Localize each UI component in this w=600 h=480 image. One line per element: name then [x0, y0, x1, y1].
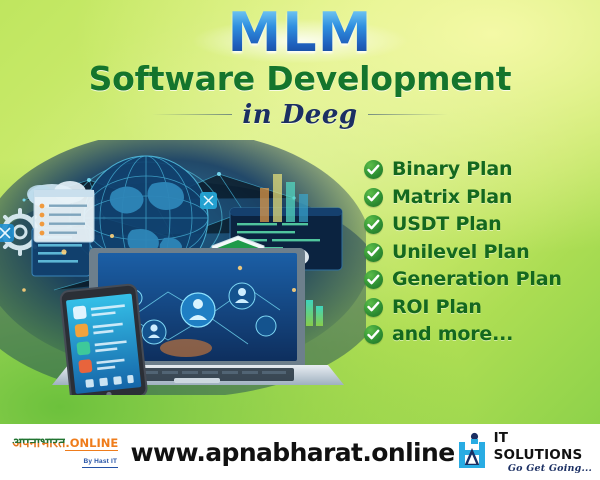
- check-circle-icon: [364, 243, 383, 262]
- headline-subtitle: Software Development: [0, 62, 600, 97]
- list-item: ROI Plan: [364, 294, 594, 322]
- list-item-label: Generation Plan: [392, 270, 562, 289]
- features-list: Binary Plan Matrix Plan USDT Plan Unilev…: [364, 156, 594, 349]
- check-circle-icon: [364, 215, 383, 234]
- check-circle-icon: [364, 270, 383, 289]
- grid-icon: [0, 224, 14, 242]
- list-item: Generation Plan: [364, 266, 594, 294]
- brand-logo-domain-text: .ONLINE: [65, 438, 118, 452]
- partner-logo[interactable]: IT SOLUTIONS Go Get Going...: [455, 430, 600, 475]
- grid-icon: [200, 192, 217, 209]
- list-item-label: ROI Plan: [392, 298, 482, 317]
- mlm-promo-banner: MLM Software Development in Deeg: [0, 0, 600, 480]
- check-circle-icon: [364, 325, 383, 344]
- divider-left: [152, 114, 232, 115]
- list-item-label: USDT Plan: [392, 215, 501, 234]
- list-item-label: Unilevel Plan: [392, 243, 529, 262]
- brand-logo-hindi-text: अपनाभारत: [12, 437, 65, 450]
- headline-block: MLM Software Development in Deeg: [0, 6, 600, 130]
- list-item-label: Matrix Plan: [392, 188, 512, 207]
- location-label: in Deeg: [242, 100, 357, 130]
- list-item-label: Binary Plan: [392, 160, 512, 179]
- technology-devices-illustration: [0, 140, 366, 395]
- list-item-label: and more...: [392, 325, 513, 344]
- location-line: in Deeg: [0, 100, 600, 130]
- h-monogram-icon: [455, 431, 489, 474]
- list-panel-icon: [34, 190, 94, 242]
- tablet-icon: [60, 284, 147, 395]
- partner-logo-tagline: Go Get Going...: [494, 464, 592, 474]
- partner-logo-title: IT SOLUTIONS: [494, 430, 583, 463]
- brand-logo[interactable]: अपनाभारत .ONLINE By Hast IT: [0, 437, 130, 468]
- divider-right: [368, 114, 448, 115]
- brand-logo-tagline: By Hast IT: [82, 459, 118, 468]
- website-url-block[interactable]: www.apnabharat.online: [130, 438, 454, 467]
- list-item: and more...: [364, 321, 594, 349]
- list-item: USDT Plan: [364, 211, 594, 239]
- list-item: Unilevel Plan: [364, 239, 594, 267]
- list-item: Matrix Plan: [364, 184, 594, 212]
- footer-bar: अपनाभारत .ONLINE By Hast IT www.apnabhar…: [0, 424, 600, 480]
- page-title: MLM: [0, 6, 600, 60]
- check-circle-icon: [364, 188, 383, 207]
- check-circle-icon: [364, 298, 383, 317]
- website-url: www.apnabharat.online: [130, 438, 454, 467]
- list-item: Binary Plan: [364, 156, 594, 184]
- check-circle-icon: [364, 160, 383, 179]
